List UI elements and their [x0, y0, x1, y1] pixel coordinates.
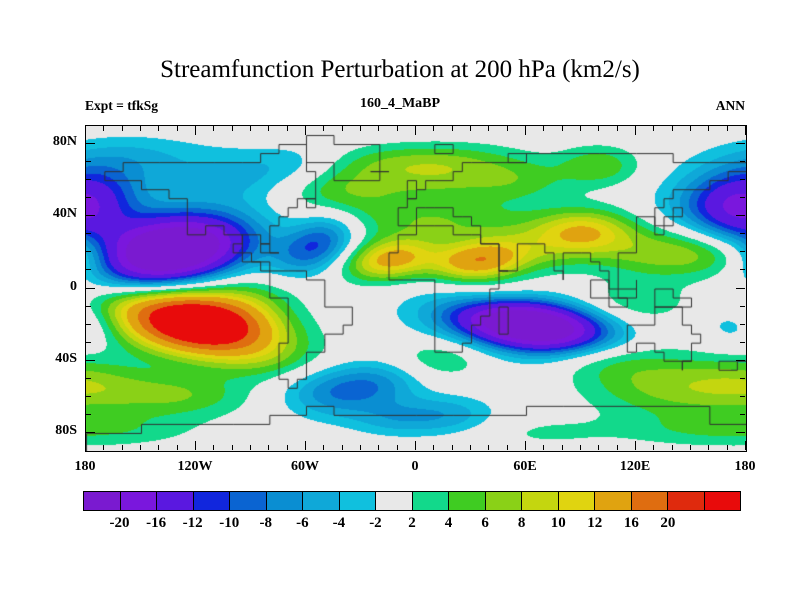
axis-tick — [736, 288, 745, 289]
colorbar-tick-label: -16 — [146, 515, 166, 532]
axis-tick — [268, 445, 269, 450]
axis-tick — [740, 233, 745, 234]
colorbar-tick-label: -2 — [369, 515, 382, 532]
axis-tick — [158, 445, 159, 450]
axis-tick — [598, 126, 599, 131]
axis-tick — [323, 445, 324, 450]
x-axis-tick-label: 180 — [715, 459, 775, 475]
axis-tick — [305, 441, 306, 450]
axis-tick — [708, 126, 709, 131]
axis-tick — [525, 441, 526, 450]
axis-tick — [635, 126, 636, 135]
axis-tick — [232, 126, 233, 131]
y-axis-tick-label: 40S — [31, 351, 77, 367]
axis-tick — [177, 126, 178, 131]
colorbar-swatch — [595, 492, 632, 510]
map-plot-area — [85, 125, 747, 452]
y-axis-tick-label: 40N — [31, 206, 77, 222]
axis-tick — [342, 445, 343, 450]
axis-tick — [122, 445, 123, 450]
page-title: Streamfunction Perturbation at 200 hPa (… — [0, 56, 800, 84]
axis-tick — [86, 179, 91, 180]
axis-tick — [287, 445, 288, 450]
axis-tick — [232, 445, 233, 450]
axis-tick — [740, 396, 745, 397]
axis-tick — [86, 432, 95, 433]
axis-tick — [86, 288, 95, 289]
axis-tick — [86, 233, 91, 234]
axis-tick — [122, 126, 123, 131]
axis-tick — [140, 126, 141, 131]
colorbar-swatch — [705, 492, 741, 510]
axis-tick — [672, 445, 673, 450]
axis-tick — [653, 126, 654, 131]
axis-tick — [415, 441, 416, 450]
axis-tick — [740, 161, 745, 162]
axis-tick — [736, 360, 745, 361]
colorbar-swatch — [449, 492, 486, 510]
colorbar-swatch — [194, 492, 231, 510]
colorbar-tick-label: -10 — [219, 515, 239, 532]
axis-tick — [415, 126, 416, 135]
axis-tick — [86, 143, 95, 144]
figure-page: Streamfunction Perturbation at 200 hPa (… — [0, 0, 800, 600]
axis-tick — [525, 126, 526, 135]
axis-tick — [86, 324, 91, 325]
contour-field-canvas — [86, 126, 746, 451]
axis-tick — [195, 126, 196, 135]
axis-tick — [86, 342, 91, 343]
axis-tick — [488, 126, 489, 131]
axis-tick — [617, 126, 618, 131]
colorbar-swatch — [413, 492, 450, 510]
axis-tick — [543, 445, 544, 450]
axis-tick — [740, 342, 745, 343]
colorbar-swatch — [376, 492, 413, 510]
axis-tick — [598, 445, 599, 450]
axis-tick — [690, 126, 691, 131]
axis-tick — [452, 126, 453, 131]
axis-tick — [85, 441, 86, 450]
axis-tick — [250, 126, 251, 131]
axis-tick — [543, 126, 544, 131]
colorbar-swatch — [668, 492, 705, 510]
axis-tick — [177, 445, 178, 450]
case-label: 160_4_MaBP — [0, 96, 800, 112]
axis-tick — [397, 126, 398, 131]
axis-tick — [740, 324, 745, 325]
axis-tick — [562, 126, 563, 131]
axis-tick — [103, 445, 104, 450]
axis-tick — [213, 126, 214, 131]
axis-tick — [740, 378, 745, 379]
axis-tick — [740, 197, 745, 198]
axis-tick — [736, 143, 745, 144]
axis-tick — [745, 126, 746, 135]
x-axis-tick-label: 0 — [385, 459, 445, 475]
axis-tick — [158, 126, 159, 131]
colorbar-swatch — [486, 492, 523, 510]
axis-tick — [690, 445, 691, 450]
axis-tick — [342, 126, 343, 131]
axis-tick — [736, 215, 745, 216]
colorbar-swatch — [267, 492, 304, 510]
axis-tick — [287, 126, 288, 131]
axis-tick — [86, 378, 91, 379]
colorbar-tick-label: 8 — [518, 515, 526, 532]
axis-tick — [86, 197, 91, 198]
axis-tick — [85, 126, 86, 135]
axis-tick — [378, 126, 379, 131]
axis-tick — [507, 126, 508, 131]
y-axis-tick-label: 0 — [31, 279, 77, 295]
axis-tick — [635, 441, 636, 450]
axis-tick — [740, 269, 745, 270]
axis-tick — [727, 126, 728, 131]
colorbar-swatch — [522, 492, 559, 510]
colorbar-swatch — [340, 492, 377, 510]
colorbar-swatch — [230, 492, 267, 510]
colorbar-tick-label: -6 — [296, 515, 309, 532]
axis-tick — [488, 445, 489, 450]
colorbar-tick-label: -4 — [333, 515, 346, 532]
axis-tick — [86, 215, 95, 216]
colorbar-swatch — [121, 492, 158, 510]
axis-tick — [195, 441, 196, 450]
axis-tick — [672, 126, 673, 131]
axis-tick — [470, 445, 471, 450]
axis-tick — [86, 251, 91, 252]
axis-tick — [86, 161, 91, 162]
axis-tick — [740, 251, 745, 252]
colorbar-swatch — [632, 492, 669, 510]
axis-tick — [397, 445, 398, 450]
colorbar-tick-label: -20 — [110, 515, 130, 532]
colorbar-tick-label: 10 — [551, 515, 566, 532]
colorbar-swatch — [84, 492, 121, 510]
axis-tick — [323, 126, 324, 131]
axis-tick — [378, 445, 379, 450]
axis-tick — [305, 126, 306, 135]
axis-tick — [470, 126, 471, 131]
colorbar-tick-label: 4 — [445, 515, 453, 532]
axis-tick — [580, 445, 581, 450]
colorbar-tick-label: 20 — [660, 515, 675, 532]
x-axis-tick-label: 60E — [495, 459, 555, 475]
axis-tick — [708, 445, 709, 450]
x-axis-tick-label: 120W — [165, 459, 225, 475]
colorbar-tick-label: 12 — [587, 515, 602, 532]
axis-tick — [86, 306, 91, 307]
axis-tick — [580, 126, 581, 131]
axis-tick — [250, 445, 251, 450]
axis-tick — [268, 126, 269, 131]
axis-tick — [745, 441, 746, 450]
axis-tick — [213, 445, 214, 450]
axis-tick — [740, 414, 745, 415]
axis-tick — [86, 360, 95, 361]
axis-tick — [452, 445, 453, 450]
axis-tick — [86, 396, 91, 397]
axis-tick — [103, 126, 104, 131]
colorbar-swatch — [303, 492, 340, 510]
axis-tick — [740, 306, 745, 307]
colorbar-swatch — [559, 492, 596, 510]
axis-tick — [433, 126, 434, 131]
x-axis-tick-label: 120E — [605, 459, 665, 475]
axis-tick — [140, 445, 141, 450]
axis-tick — [740, 179, 745, 180]
axis-tick — [562, 445, 563, 450]
x-axis-tick-label: 60W — [275, 459, 335, 475]
y-axis-tick-label: 80N — [31, 134, 77, 150]
axis-tick — [617, 445, 618, 450]
axis-tick — [736, 432, 745, 433]
colorbar-tick-label: 16 — [624, 515, 639, 532]
axis-tick — [433, 445, 434, 450]
axis-tick — [86, 269, 91, 270]
axis-tick — [727, 445, 728, 450]
x-axis-tick-label: 180 — [55, 459, 115, 475]
axis-tick — [360, 445, 361, 450]
colorbar-swatch — [157, 492, 194, 510]
colorbar-tick-label: 6 — [481, 515, 489, 532]
axis-tick — [360, 126, 361, 131]
axis-tick — [86, 414, 91, 415]
axis-tick — [653, 445, 654, 450]
season-label: ANN — [716, 98, 745, 114]
axis-tick — [507, 445, 508, 450]
y-axis-tick-label: 80S — [31, 423, 77, 439]
colorbar-tick-label: -8 — [260, 515, 273, 532]
colorbar-tick-label: 2 — [408, 515, 416, 532]
colorbar-tick-label: -12 — [183, 515, 203, 532]
colorbar — [83, 491, 741, 511]
